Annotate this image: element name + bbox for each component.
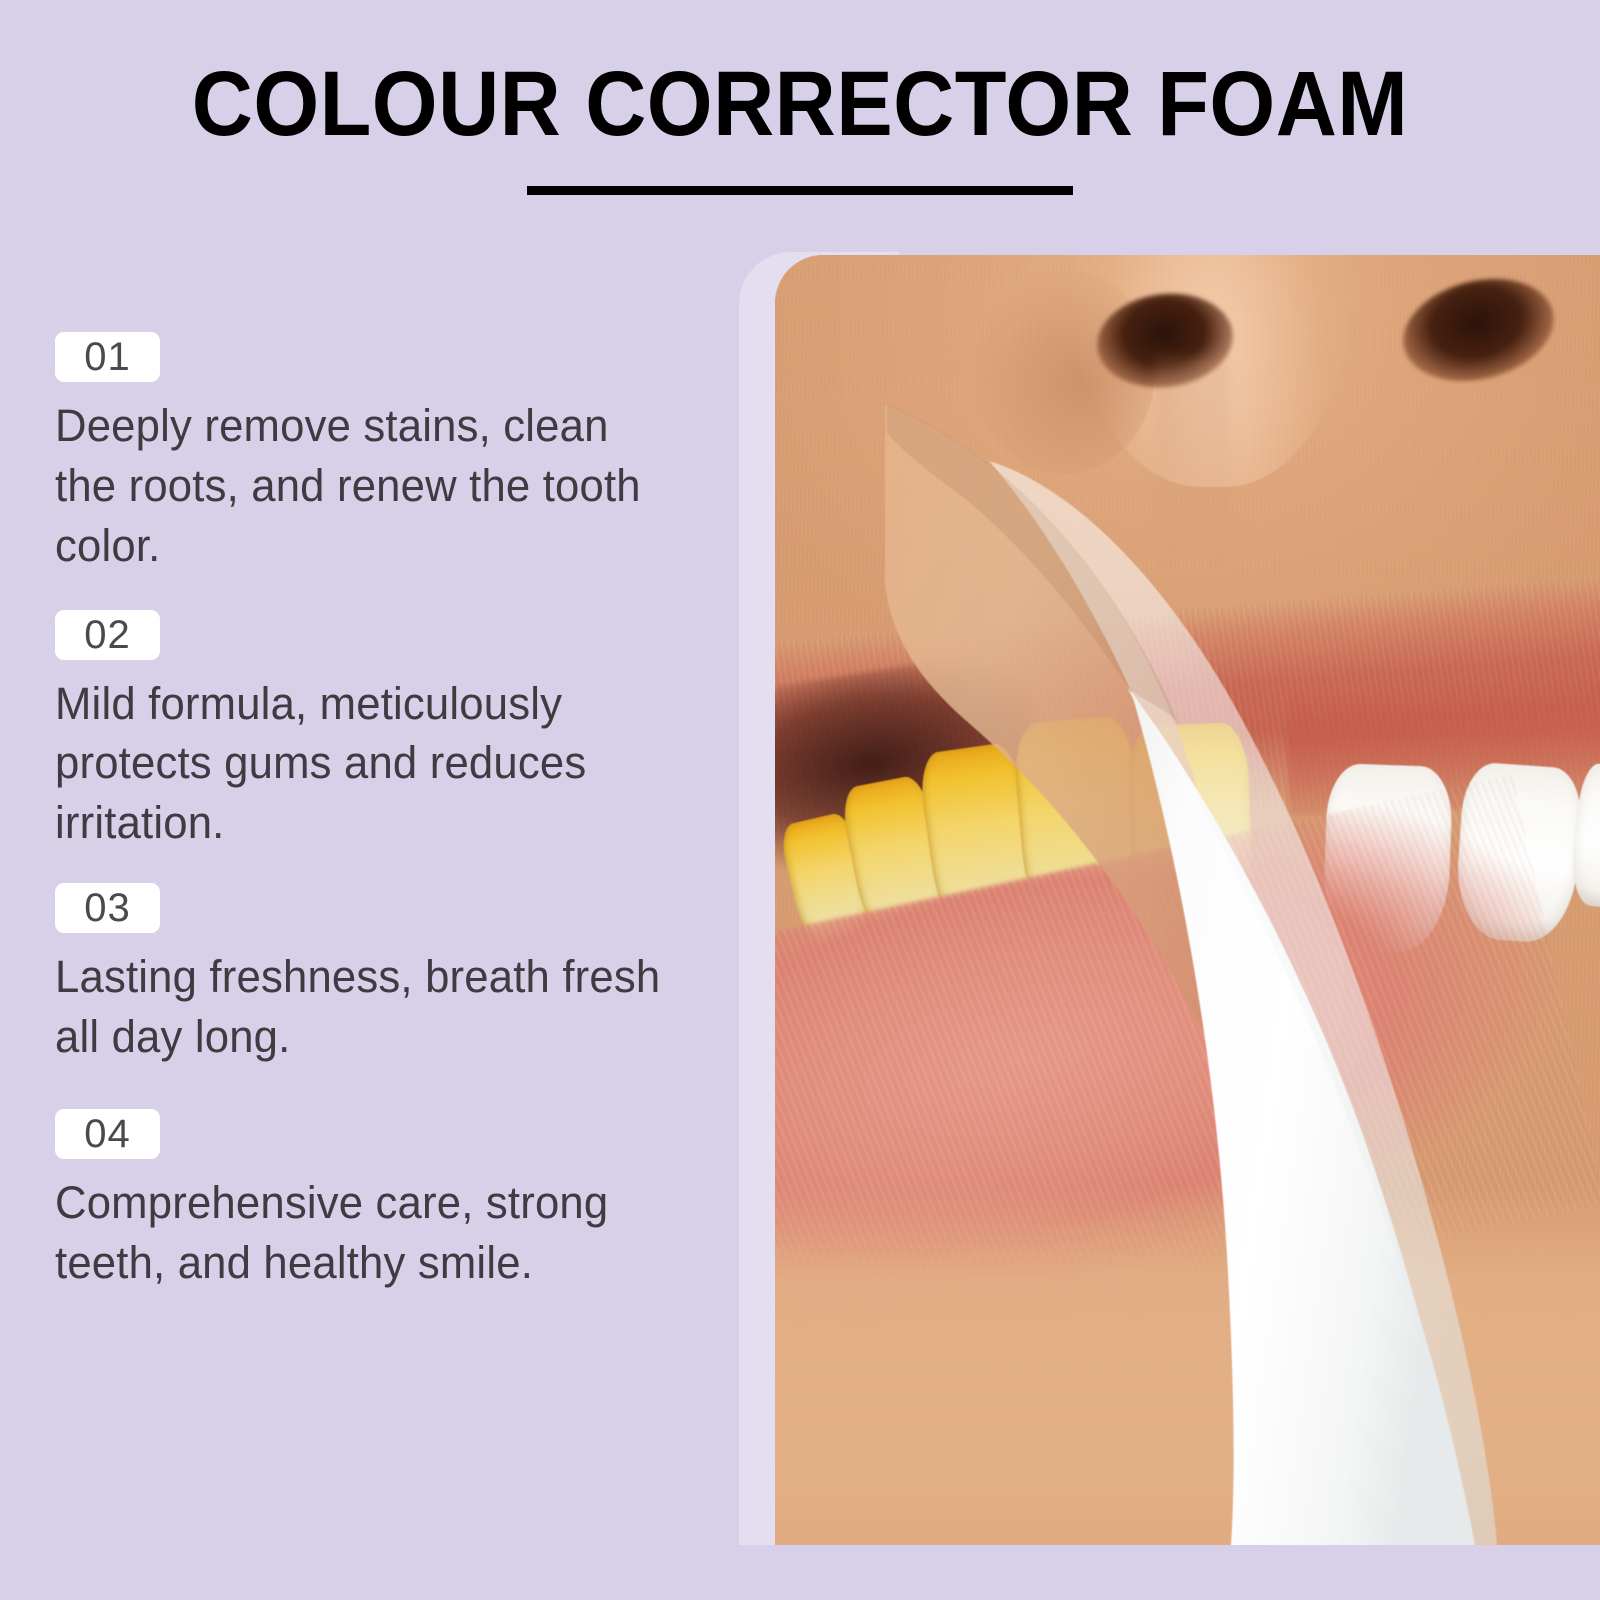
- feature-item-01: 01 Deeply remove stains, clean the roots…: [55, 332, 695, 576]
- feature-item-04: 04 Comprehensive care, strong teeth, and…: [55, 1109, 695, 1293]
- title-block: COLOUR CORRECTOR FOAM: [0, 58, 1600, 195]
- page-title: COLOUR CORRECTOR FOAM: [64, 58, 1536, 150]
- feature-text-03: Lasting freshness, breath fresh all day …: [55, 947, 676, 1067]
- feature-item-03: 03 Lasting freshness, breath fresh all d…: [55, 883, 695, 1067]
- poster-root: COLOUR CORRECTOR FOAM 01 Deeply remove s…: [0, 0, 1600, 1600]
- feature-badge-03: 03: [55, 883, 160, 933]
- photo-soften-layer: [775, 255, 1600, 1545]
- feature-text-02: Mild formula, meticulously protects gums…: [55, 674, 676, 854]
- feature-badge-01: 01: [55, 332, 160, 382]
- feature-text-04: Comprehensive care, strong teeth, and he…: [55, 1173, 676, 1293]
- feature-text-01: Deeply remove stains, clean the roots, a…: [55, 396, 676, 576]
- title-underline-rule: [527, 186, 1073, 195]
- feature-list: 01 Deeply remove stains, clean the roots…: [55, 332, 695, 1292]
- photo-composition: [775, 255, 1600, 1545]
- feature-badge-04: 04: [55, 1109, 160, 1159]
- feature-item-02: 02 Mild formula, meticulously protects g…: [55, 610, 695, 854]
- product-photo-panel: [775, 255, 1600, 1545]
- feature-badge-02: 02: [55, 610, 160, 660]
